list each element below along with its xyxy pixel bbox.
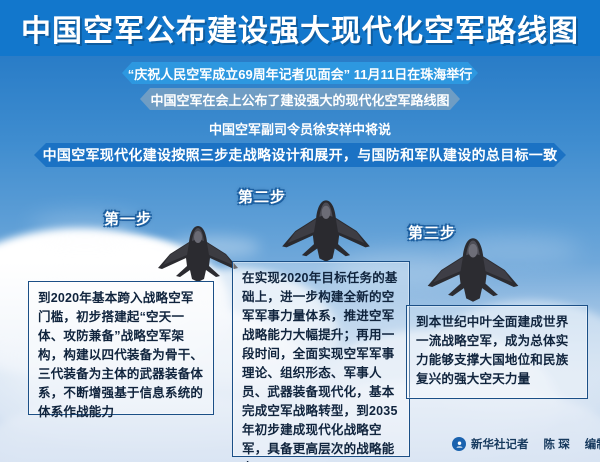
page-title: 中国空军公布建设强大现代化空军路线图 <box>0 0 600 56</box>
credit-role: 编制 <box>585 436 600 452</box>
banner-strategy-line: 中国空军现代化建设按照三步走战略设计和展开，与国防和军队建设的总目标一致 <box>34 143 566 167</box>
credit-line: 新华社记者 陈 琛 编制 <box>452 436 600 452</box>
fighter-jet-icon-2 <box>280 198 372 264</box>
step-label-1: 第一步 <box>104 208 152 229</box>
credit-agency: 新华社记者 <box>471 436 529 452</box>
step-label-2: 第二步 <box>238 186 286 207</box>
fighter-jet-icon-1 <box>156 224 240 284</box>
credit-author: 陈 琛 <box>544 436 570 452</box>
step-text-box-2: 在实现2020年目标任务的基础上，进一步构建全新的空军军事力量体系，推进空军战略… <box>232 261 410 457</box>
xinhua-logo-icon <box>452 437 466 451</box>
banner-speaker-line: 中国空军副司令员徐安祥中将说 <box>150 118 450 138</box>
fighter-jet-icon-3 <box>425 236 521 304</box>
step-text-box-1: 到2020年基本跨入战略空军门槛，初步搭建起“空天一体、攻防兼备”战略空军架构，… <box>28 281 214 415</box>
title-bar: 中国空军公布建设强大现代化空军路线图 <box>0 0 600 56</box>
step-label-3: 第三步 <box>408 222 456 243</box>
banner-event-line: “庆祝人民空军成立69周年记者见面会” 11月11日在珠海举行 <box>122 62 478 84</box>
infographic-canvas: 中国空军公布建设强大现代化空军路线图 “庆祝人民空军成立69周年记者见面会” 1… <box>0 0 600 462</box>
step-text-box-3: 到本世纪中叶全面建成世界一流战略空军，成为总体实力能够支撑大国地位和民族复兴的强… <box>406 305 588 399</box>
banner-announcement-line: 中国空军在会上公布了建设强大的现代化空军路线图 <box>140 88 460 110</box>
